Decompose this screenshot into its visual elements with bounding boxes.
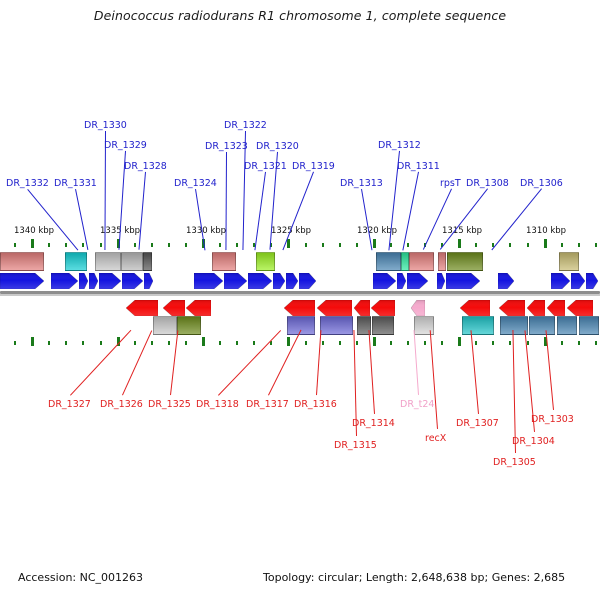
feature-box[interactable]: [372, 316, 394, 335]
feature-box[interactable]: [153, 316, 177, 335]
ruler-tick-minor: [185, 341, 187, 345]
leader-line: [27, 189, 78, 251]
feature-box[interactable]: [401, 252, 409, 271]
ruler-tick-minor: [305, 341, 307, 345]
gene-arrow[interactable]: [248, 273, 272, 289]
ruler-tick-minor: [253, 341, 255, 345]
gene-arrow[interactable]: [571, 273, 585, 289]
leader-line: [282, 172, 313, 250]
ruler-tick-major: [373, 239, 376, 248]
ruler-tick-minor: [14, 243, 16, 247]
gene-arrow[interactable]: [79, 273, 88, 289]
leader-line: [195, 189, 205, 250]
gene-arrow[interactable]: [547, 300, 565, 316]
leader-line: [423, 189, 452, 250]
feature-box[interactable]: [447, 252, 483, 271]
ruler-tick-minor: [424, 341, 426, 345]
ruler-tick-minor: [236, 341, 238, 345]
gene-arrow[interactable]: [551, 273, 570, 289]
ruler-tick-minor: [509, 341, 511, 345]
ruler-tick-major: [31, 337, 34, 346]
gene-label-dr_1305[interactable]: DR_1305: [493, 457, 536, 468]
gene-label-dr_1321[interactable]: DR_1321: [244, 161, 287, 172]
ruler-tick-minor: [509, 243, 511, 247]
gene-label-dr_1322[interactable]: DR_1322: [224, 120, 267, 131]
leader-line: [138, 172, 146, 250]
page-title: Deinococcus radiodurans R1 chromosome 1,…: [0, 8, 600, 23]
feature-box[interactable]: [320, 316, 353, 335]
gene-label-dr_1308[interactable]: DR_1308: [466, 178, 509, 189]
ruler-tick-label: 1340 kbp: [14, 226, 54, 236]
gene-arrow[interactable]: [186, 300, 211, 316]
leader-line: [316, 330, 321, 395]
gene-label-dr_1304[interactable]: DR_1304: [512, 436, 555, 447]
leader-line: [254, 172, 266, 250]
ruler-tick-label: 1315 kbp: [442, 226, 482, 236]
ruler-tick-minor: [527, 341, 529, 345]
gene-label-dr_1331[interactable]: DR_1331: [54, 178, 97, 189]
gene-arrow[interactable]: [567, 300, 593, 316]
gene-arrow[interactable]: [373, 273, 396, 289]
gene-label-dr_1306[interactable]: DR_1306: [520, 178, 563, 189]
feature-box[interactable]: [0, 252, 44, 271]
chromosome-backbone-shadow: [0, 294, 600, 296]
ruler-tick-minor: [407, 341, 409, 345]
ruler-tick-minor: [82, 341, 84, 345]
gene-label-dr_1324[interactable]: DR_1324: [174, 178, 217, 189]
leader-line: [75, 189, 88, 250]
ruler-tick-minor: [356, 243, 358, 247]
feature-box[interactable]: [95, 252, 121, 271]
ruler-tick-minor: [578, 341, 580, 345]
gene-arrow[interactable]: [89, 273, 98, 289]
leader-line: [361, 189, 372, 250]
ruler-tick-major: [202, 337, 205, 346]
feature-box[interactable]: [462, 316, 494, 335]
gene-arrow[interactable]: [354, 300, 370, 316]
gene-label-dr_1314[interactable]: DR_1314: [352, 418, 395, 429]
gene-arrow[interactable]: [284, 300, 315, 316]
ruler-tick-minor: [475, 243, 477, 247]
ruler-tick-minor: [100, 341, 102, 345]
gene-label-dr_1325[interactable]: DR_1325: [148, 399, 191, 410]
feature-box[interactable]: [376, 252, 401, 271]
feature-box[interactable]: [177, 316, 201, 335]
gene-label-dr_1326[interactable]: DR_1326: [100, 399, 143, 410]
leader-line: [512, 330, 516, 453]
ruler-tick-minor: [390, 243, 392, 247]
ruler-tick-minor: [185, 243, 187, 247]
topology-stats-text: Topology: circular; Length: 2,648,638 bp…: [263, 571, 565, 584]
ruler-tick-minor: [475, 341, 477, 345]
feature-box[interactable]: [287, 316, 315, 335]
ruler-tick-major: [287, 239, 290, 248]
ruler-tick-minor: [322, 341, 324, 345]
gene-arrow[interactable]: [224, 273, 247, 289]
gene-arrow[interactable]: [499, 300, 525, 316]
ruler-tick-label: 1330 kbp: [186, 226, 226, 236]
leader-line: [430, 330, 438, 429]
feature-box[interactable]: [121, 252, 143, 271]
gene-arrow[interactable]: [498, 273, 514, 289]
feature-box[interactable]: [143, 252, 152, 271]
ruler-tick-minor: [134, 243, 136, 247]
trna-gene-arrow[interactable]: [411, 300, 425, 316]
gene-arrow[interactable]: [163, 300, 185, 316]
gene-label-rpst[interactable]: rpsT: [440, 178, 461, 189]
leader-line: [268, 330, 301, 395]
ruler-tick-major: [458, 239, 461, 248]
ruler-tick-minor: [65, 341, 67, 345]
gene-arrow[interactable]: [126, 300, 158, 316]
accession-text: Accession: NC_001263: [18, 571, 143, 584]
leader-line: [414, 330, 419, 395]
gene-label-dr_1327[interactable]: DR_1327: [48, 399, 91, 410]
ruler-tick-minor: [595, 243, 597, 247]
gene-label-recx[interactable]: recX: [425, 433, 446, 444]
gene-label-dr_1307[interactable]: DR_1307: [456, 418, 499, 429]
ruler-tick-major: [458, 337, 461, 346]
ruler-tick-minor: [339, 243, 341, 247]
ruler-tick-major: [31, 239, 34, 248]
gene-arrow[interactable]: [446, 273, 480, 289]
gene-label-dr_1317[interactable]: DR_1317: [246, 399, 289, 410]
feature-box[interactable]: [256, 252, 275, 271]
gene-arrow[interactable]: [122, 273, 143, 289]
leader-line: [402, 172, 419, 250]
gene-arrow[interactable]: [273, 273, 285, 289]
ruler-tick-minor: [48, 341, 50, 345]
gene-label-dr_t24[interactable]: DR_t24: [400, 399, 434, 410]
ruler-tick-major: [544, 239, 547, 248]
ruler-tick-minor: [595, 341, 597, 345]
feature-box[interactable]: [579, 316, 599, 335]
ruler-tick-minor: [527, 243, 529, 247]
ruler-tick-minor: [151, 243, 153, 247]
ruler-tick-minor: [48, 243, 50, 247]
gene-arrow[interactable]: [144, 273, 153, 289]
gene-label-dr_1313[interactable]: DR_1313: [340, 178, 383, 189]
ruler-tick-minor: [151, 341, 153, 345]
gene-arrow[interactable]: [0, 273, 44, 289]
ruler-tick-minor: [14, 341, 16, 345]
genome-map-viewer: Deinococcus radiodurans R1 chromosome 1,…: [0, 0, 600, 600]
ruler-tick-major: [373, 337, 376, 346]
gene-label-dr_1318[interactable]: DR_1318: [196, 399, 239, 410]
gene-arrow[interactable]: [407, 273, 428, 289]
feature-box[interactable]: [65, 252, 87, 271]
ruler-tick-minor: [134, 341, 136, 345]
ruler-tick-minor: [561, 341, 563, 345]
feature-box[interactable]: [438, 252, 446, 271]
ruler-tick-minor: [236, 243, 238, 247]
gene-arrow[interactable]: [397, 273, 406, 289]
gene-arrow[interactable]: [194, 273, 223, 289]
leader-line: [170, 330, 178, 395]
gene-arrow[interactable]: [527, 300, 545, 316]
ruler-tick-minor: [100, 243, 102, 247]
gene-label-dr_1312[interactable]: DR_1312: [378, 140, 421, 151]
leader-line: [545, 330, 554, 410]
gene-label-dr_1330[interactable]: DR_1330: [84, 120, 127, 131]
ruler-tick-minor: [492, 341, 494, 345]
ruler-tick-minor: [305, 243, 307, 247]
feature-box[interactable]: [529, 316, 555, 335]
feature-box[interactable]: [409, 252, 434, 271]
gene-label-dr_1332[interactable]: DR_1332: [6, 178, 49, 189]
ruler-tick-minor: [322, 243, 324, 247]
ruler-tick-minor: [578, 243, 580, 247]
gene-label-dr_1303[interactable]: DR_1303: [531, 414, 574, 425]
ruler-tick-minor: [82, 243, 84, 247]
gene-arrow[interactable]: [99, 273, 121, 289]
gene-label-dr_1323[interactable]: DR_1323: [205, 141, 248, 152]
feature-box[interactable]: [414, 316, 434, 335]
ruler-tick-minor: [219, 243, 221, 247]
leader-line: [122, 330, 152, 395]
gene-label-dr_1315[interactable]: DR_1315: [334, 440, 377, 451]
feature-box[interactable]: [557, 316, 577, 335]
ruler-tick-minor: [168, 243, 170, 247]
gene-label-dr_1329[interactable]: DR_1329: [104, 140, 147, 151]
ruler-tick-minor: [356, 341, 358, 345]
gene-label-dr_1311[interactable]: DR_1311: [397, 161, 440, 172]
leader-line: [70, 330, 131, 396]
gene-arrow[interactable]: [460, 300, 490, 316]
gene-label-dr_1320[interactable]: DR_1320: [256, 141, 299, 152]
gene-arrow[interactable]: [586, 273, 598, 289]
ruler-tick-minor: [219, 341, 221, 345]
gene-arrow[interactable]: [371, 300, 395, 316]
ruler-tick-minor: [168, 341, 170, 345]
leader-line: [225, 152, 227, 250]
ruler-tick-minor: [390, 341, 392, 345]
ruler-tick-minor: [561, 243, 563, 247]
gene-arrow[interactable]: [299, 273, 316, 289]
gene-arrow[interactable]: [51, 273, 78, 289]
feature-box[interactable]: [559, 252, 579, 271]
gene-arrow[interactable]: [437, 273, 445, 289]
ruler-tick-minor: [65, 243, 67, 247]
ruler-tick-major: [287, 337, 290, 346]
ruler-tick-label: 1310 kbp: [526, 226, 566, 236]
ruler-tick-minor: [339, 341, 341, 345]
ruler-tick-minor: [407, 243, 409, 247]
leader-line: [491, 188, 541, 250]
gene-label-dr_1328[interactable]: DR_1328: [124, 161, 167, 172]
gene-label-dr_1319[interactable]: DR_1319: [292, 161, 335, 172]
ruler-tick-minor: [441, 341, 443, 345]
gene-arrow[interactable]: [286, 273, 298, 289]
gene-label-dr_1316[interactable]: DR_1316: [294, 399, 337, 410]
feature-box[interactable]: [212, 252, 236, 271]
gene-arrow[interactable]: [317, 300, 352, 316]
